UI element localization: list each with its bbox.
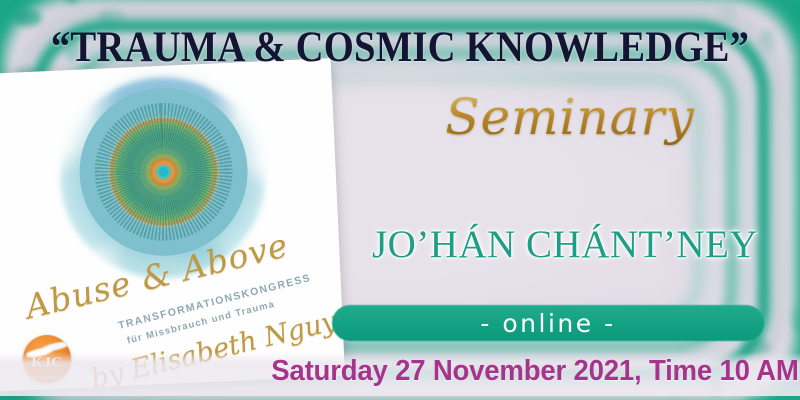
event-banner: Abuse & Above TRANSFORMATIONSKONGRESS fü… (0, 0, 800, 400)
event-subtitle: Seminary (355, 88, 785, 146)
event-datetime: Saturday 27 November 2021, Time 10 AM (271, 355, 775, 388)
speaker-name: JO’HÁN CHÁNT’NEY (330, 222, 800, 267)
page-title: “TRAUMA & COSMIC KNOWLEDGE” (40, 26, 760, 69)
format-label: - online - (332, 305, 764, 341)
